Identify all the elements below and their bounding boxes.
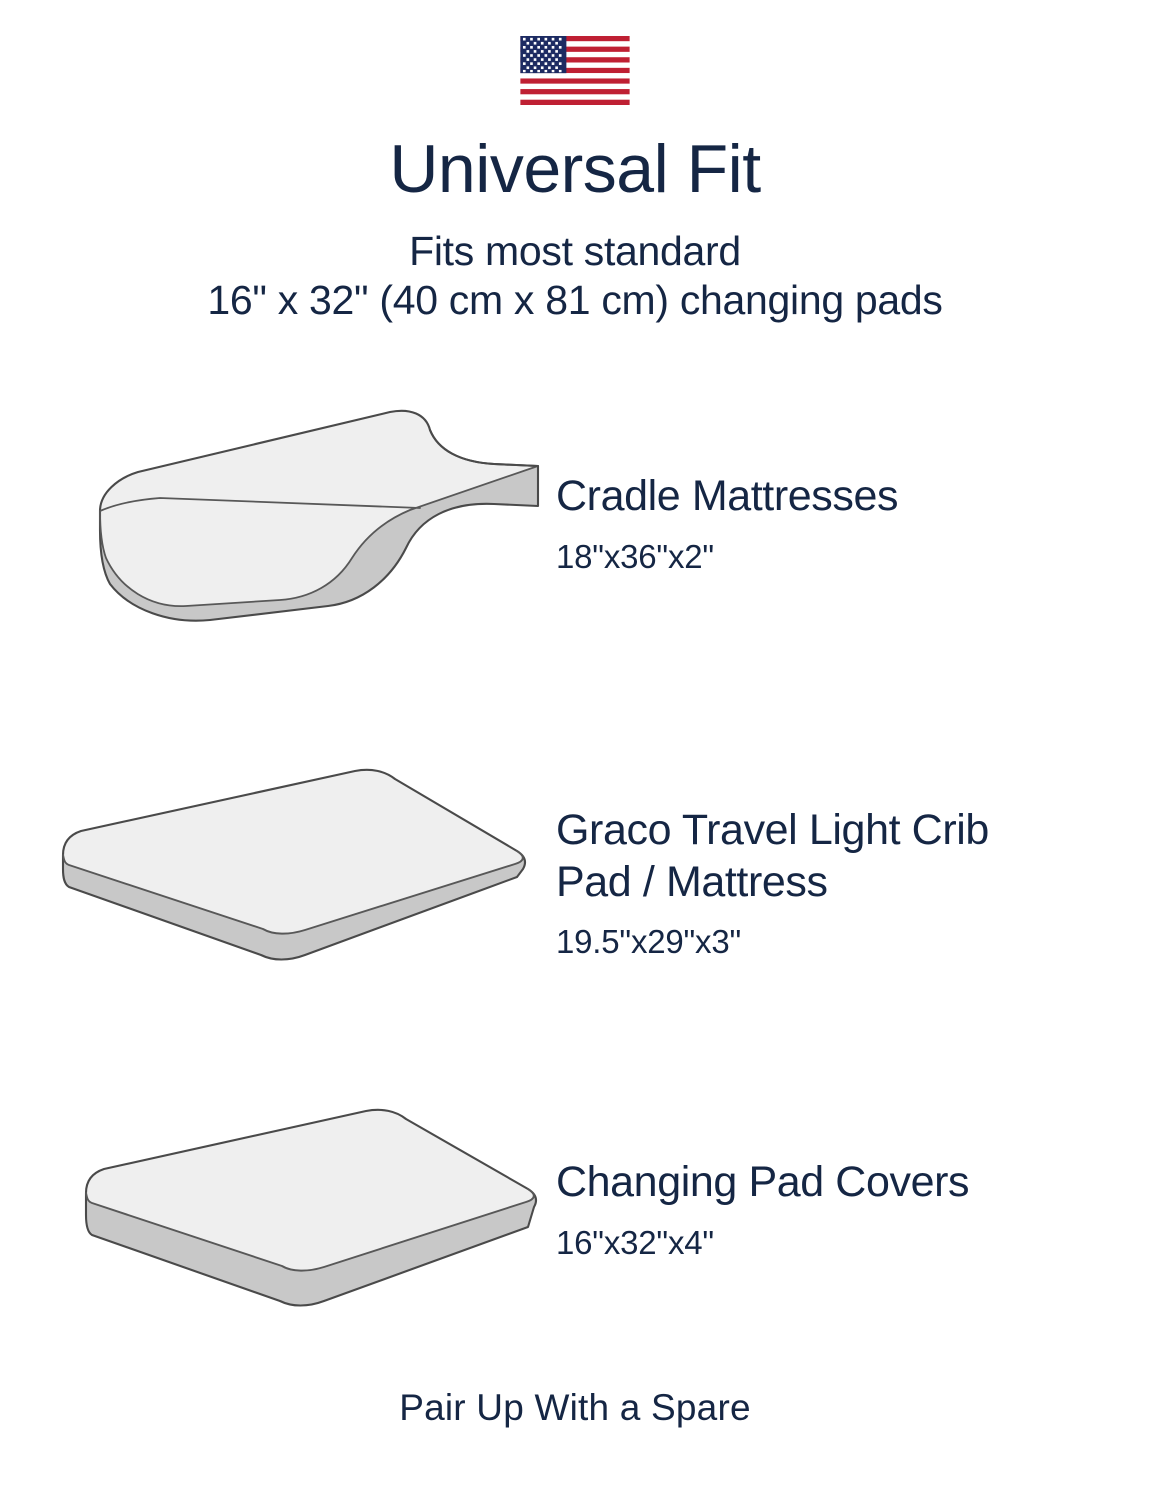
product-list: Cradle Mattresses 18"x36"x2"	[0, 0, 1150, 1500]
product-illustration-flat-mattress-thick	[78, 1105, 548, 1320]
product-title-line-2: Pad / Mattress	[556, 858, 828, 906]
product-row-changing-pad-covers: Changing Pad Covers 16"x32"x4"	[0, 1105, 1150, 1355]
product-illustration-contoured-pad	[90, 398, 550, 633]
footer: Pair Up With a Spare	[0, 1387, 1150, 1429]
product-title-line-1: Graco Travel Light Crib	[556, 806, 989, 854]
product-title: Graco Travel Light Crib Pad / Mattress	[556, 805, 1116, 908]
product-title: Changing Pad Covers	[556, 1157, 1116, 1209]
infographic-page: Universal Fit Fits most standard 16" x 3…	[0, 0, 1150, 1500]
product-size: 18"x36"x2"	[556, 537, 1116, 577]
product-text-cradle-mattresses: Cradle Mattresses 18"x36"x2"	[556, 471, 1116, 576]
product-row-cradle-mattresses: Cradle Mattresses 18"x36"x2"	[0, 398, 1150, 638]
product-text-graco-travel-light: Graco Travel Light Crib Pad / Mattress 1…	[556, 805, 1116, 962]
product-row-graco-travel-light: Graco Travel Light Crib Pad / Mattress 1…	[0, 765, 1150, 1015]
product-size: 19.5"x29"x3"	[556, 922, 1116, 962]
product-text-changing-pad-covers: Changing Pad Covers 16"x32"x4"	[556, 1157, 1116, 1262]
footer-tagline: Pair Up With a Spare	[399, 1387, 751, 1428]
product-illustration-flat-mattress-thin	[55, 765, 535, 985]
product-title: Cradle Mattresses	[556, 471, 1116, 523]
product-size: 16"x32"x4"	[556, 1223, 1116, 1263]
